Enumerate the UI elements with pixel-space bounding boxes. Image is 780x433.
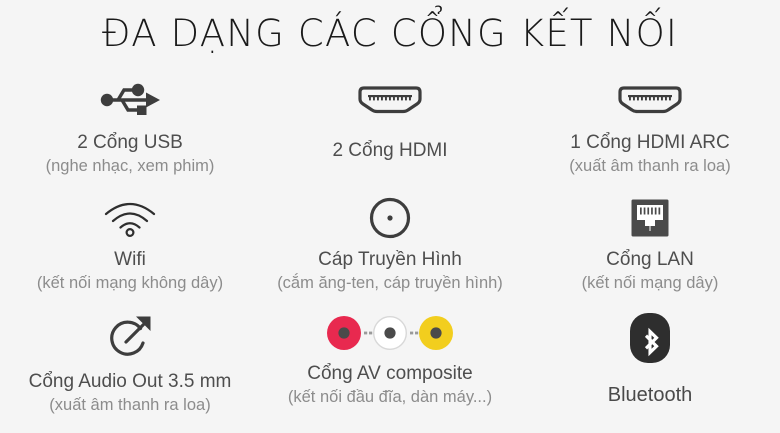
port-sublabel: (nghe nhạc, xem phim): [46, 155, 215, 177]
port-sublabel: (xuất âm thanh ra loa): [49, 394, 210, 416]
infographic-page: ĐA DẠNG CÁC CỔNG KẾT NỐI 2 Cổng USB: [0, 0, 780, 433]
port-item-coaxial: Cáp Truyền Hình (cắm ăng-ten, cáp truyền…: [260, 193, 520, 309]
port-item-audio-out: Cổng Audio Out 3.5 mm (xuất âm thanh ra …: [0, 309, 260, 433]
port-item-hdmi-arc: 1 Cổng HDMI ARC (xuất âm thanh ra loa): [520, 74, 780, 193]
port-label: Cổng Audio Out 3.5 mm: [29, 369, 232, 394]
port-label: 2 Cổng HDMI: [332, 138, 447, 163]
port-label: Cổng LAN: [606, 247, 694, 272]
coaxial-antenna-icon: [367, 195, 413, 241]
audio-out-icon: [105, 311, 155, 363]
port-sublabel: (kết nối mạng không dây): [37, 272, 223, 294]
hdmi-port-icon: [355, 76, 425, 124]
port-item-usb: 2 Cổng USB (nghe nhạc, xem phim): [0, 74, 260, 193]
port-label: Wifi: [114, 247, 146, 272]
wifi-icon: [102, 195, 158, 241]
page-title: ĐA DẠNG CÁC CỔNG KẾT NỐI: [0, 12, 780, 56]
port-label: Cáp Truyền Hình: [318, 247, 462, 272]
port-label: Bluetooth: [608, 383, 693, 408]
port-item-hdmi: 2 Cổng HDMI: [260, 74, 520, 193]
av-composite-icon: [326, 311, 454, 355]
usb-icon: [98, 76, 162, 124]
port-label: 2 Cổng USB: [77, 130, 183, 155]
port-item-bluetooth: Bluetooth: [520, 309, 780, 433]
ports-grid: 2 Cổng USB (nghe nhạc, xem phim): [0, 74, 780, 433]
bluetooth-icon: [628, 311, 672, 365]
port-item-wifi: Wifi (kết nối mạng không dây): [0, 193, 260, 309]
lan-rj45-icon: [630, 195, 670, 241]
port-item-lan: Cổng LAN (kết nối mạng dây): [520, 193, 780, 309]
port-label: Cổng AV composite: [307, 361, 472, 386]
port-sublabel: (kết nối đầu đĩa, dàn máy...): [288, 386, 492, 408]
port-item-av-composite: Cổng AV composite (kết nối đầu đĩa, dàn …: [260, 309, 520, 433]
hdmi-arc-port-icon: [615, 76, 685, 124]
port-sublabel: (cắm ăng-ten, cáp truyền hình): [277, 272, 503, 294]
port-sublabel: (kết nối mạng dây): [582, 272, 719, 294]
port-label: 1 Cổng HDMI ARC: [570, 130, 729, 155]
port-sublabel: (xuất âm thanh ra loa): [569, 155, 730, 177]
